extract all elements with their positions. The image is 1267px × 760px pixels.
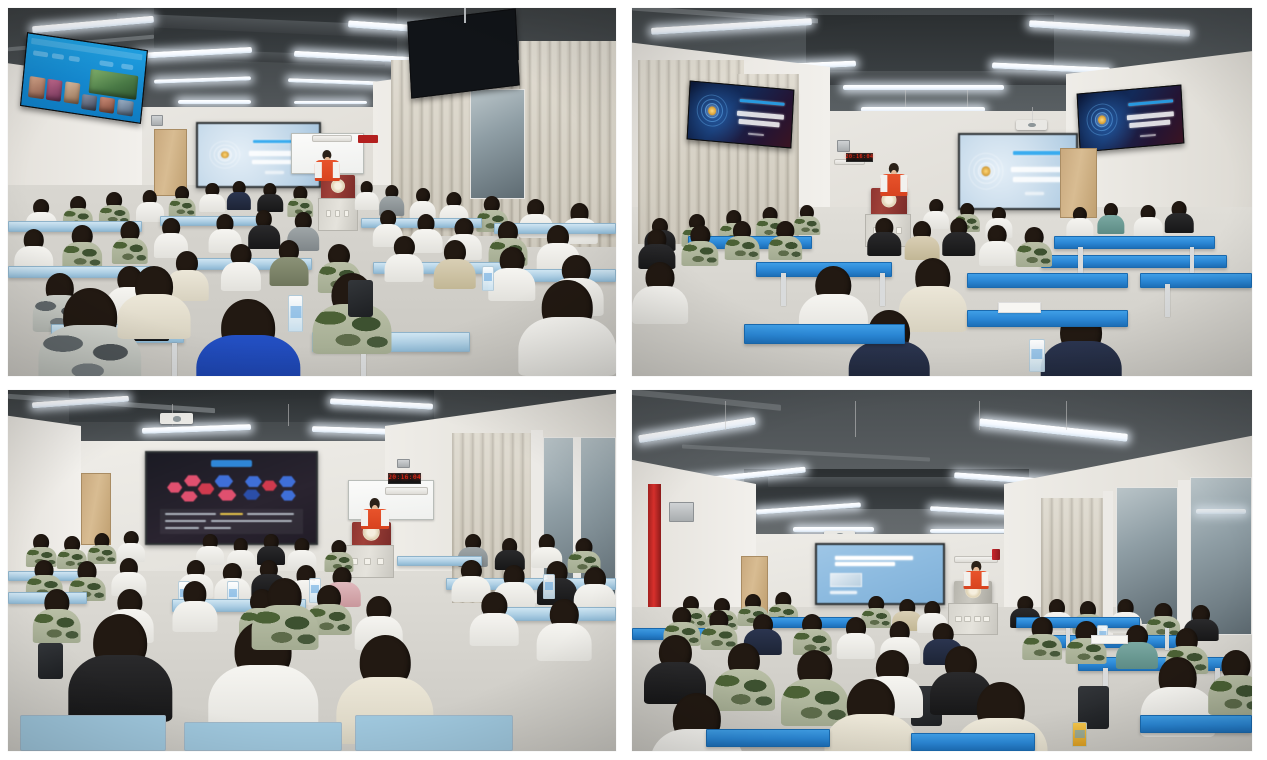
student — [1165, 201, 1194, 233]
panel-top-right[interactable]: 20:16:04 — [632, 8, 1252, 376]
water-bottle — [1029, 339, 1045, 372]
mindmap-node — [245, 476, 262, 488]
tv-thumb[interactable] — [46, 78, 63, 102]
slide-title-1 — [1011, 167, 1067, 172]
bench-back — [355, 715, 513, 751]
mindmap-node — [281, 490, 296, 501]
fire-alarm — [992, 549, 1001, 560]
window — [470, 89, 525, 199]
desk — [1041, 255, 1227, 268]
slide-title-2 — [835, 562, 896, 566]
mindmap-title — [211, 460, 252, 467]
student — [63, 225, 103, 269]
student — [1097, 203, 1124, 234]
ceiling-light — [178, 100, 251, 104]
student — [355, 181, 379, 210]
desk-leg — [172, 343, 177, 376]
student — [470, 592, 519, 646]
desk — [1140, 273, 1252, 288]
slide-footer — [830, 591, 858, 594]
body-text-line — [211, 520, 292, 522]
mindmap-node — [198, 483, 215, 495]
ceiling-projector — [160, 413, 193, 424]
student-foreground — [69, 614, 172, 722]
tv-chip — [121, 63, 133, 70]
podium-base — [318, 198, 358, 231]
body-text-line — [220, 513, 244, 515]
slide-emblem-rings — [209, 140, 240, 169]
red-column — [648, 484, 662, 607]
student — [942, 218, 975, 256]
presenter-2 — [880, 163, 907, 196]
student — [227, 181, 251, 210]
wall-speaker — [669, 502, 694, 522]
desk-front — [967, 310, 1128, 327]
student — [99, 192, 129, 225]
slide-title-1 — [835, 556, 913, 560]
panel-top-left[interactable] — [8, 8, 616, 376]
student-foreground — [196, 299, 299, 376]
student-foreground — [632, 262, 688, 325]
tv-thumb[interactable] — [99, 96, 116, 114]
body-text-line — [165, 520, 206, 522]
student — [434, 240, 477, 289]
tv-chip — [100, 60, 115, 67]
slide-image-box — [830, 573, 863, 587]
student-foreground — [824, 679, 917, 751]
student — [257, 183, 283, 212]
presenter-3 — [361, 498, 389, 529]
student — [1209, 650, 1252, 715]
student — [537, 599, 592, 660]
student — [1134, 205, 1163, 237]
water-bottle — [482, 266, 494, 292]
ceiling-light — [294, 101, 367, 105]
desk-front — [706, 729, 830, 747]
bench-back — [184, 722, 342, 751]
tv-thumb[interactable] — [64, 81, 81, 105]
photo-collage: 20:16:04 — [0, 0, 1267, 760]
presenter-1 — [315, 150, 339, 181]
mindmap-node — [184, 475, 201, 487]
slide-dark-emblem — [687, 82, 793, 148]
wall-speaker — [837, 140, 851, 151]
projection-screen-3 — [145, 451, 318, 545]
water-bottle — [543, 574, 555, 599]
mindmap-node — [215, 475, 234, 488]
mindmap-node — [167, 482, 182, 493]
desk-leg — [361, 352, 366, 376]
classroom-scene-1 — [8, 8, 616, 376]
ac-vent — [312, 135, 352, 142]
slide-heading — [739, 99, 785, 106]
ceiling-light — [843, 85, 1004, 90]
body-text-line — [165, 513, 216, 515]
mindmap-node — [243, 489, 260, 500]
slide-footer — [748, 132, 765, 136]
panel-bottom-left[interactable]: 20:16:04 — [8, 390, 616, 751]
desk — [967, 273, 1128, 288]
backpack — [348, 280, 372, 317]
collage-grid: 20:16:04 — [8, 8, 1252, 751]
desk-front — [911, 733, 1035, 751]
slide-title-2 — [1013, 177, 1062, 182]
mindmap-node — [181, 491, 198, 502]
tv-chip — [69, 55, 80, 62]
desk-front — [744, 324, 905, 344]
drink-bottle — [1072, 722, 1087, 747]
slide-footer — [265, 171, 284, 173]
wall-speaker — [151, 115, 163, 126]
ceiling-light — [930, 529, 1011, 533]
classroom-scene-3: 20:16:04 — [8, 390, 616, 751]
desk-front — [1140, 715, 1252, 733]
classroom-scene-4 — [632, 390, 1252, 751]
wall-speaker — [397, 459, 410, 468]
paper-handout — [1091, 635, 1128, 644]
led-clock-text: 20:16:04 — [845, 155, 873, 160]
backpack — [38, 643, 62, 679]
led-clock-3: 20:16:04 — [388, 473, 421, 484]
slide-hex-mindmap — [147, 453, 316, 543]
student — [221, 244, 261, 292]
student — [793, 614, 831, 655]
wall-tv-right[interactable] — [1077, 84, 1185, 152]
led-clock-text: 20:16:04 — [388, 475, 421, 481]
mindmap-node — [262, 480, 277, 491]
slide-pale-blue — [817, 545, 943, 602]
tv-thumb[interactable] — [81, 94, 98, 112]
podium-emblem — [331, 179, 345, 193]
student — [111, 221, 147, 263]
slide-footer — [1140, 133, 1157, 137]
exit-sign — [358, 135, 379, 143]
slide-title-2 — [738, 119, 779, 127]
tv-mount — [464, 8, 466, 23]
tv-chip — [33, 50, 48, 57]
tv-thumb[interactable] — [28, 76, 45, 100]
student — [868, 218, 901, 256]
student-foreground — [251, 578, 318, 650]
student — [1016, 227, 1052, 267]
student — [905, 221, 940, 260]
mindmap-node — [218, 489, 237, 501]
tv-thumb[interactable] — [116, 99, 134, 117]
student — [979, 225, 1015, 265]
led-clock-2: 20:16:04 — [846, 153, 873, 162]
student — [169, 186, 196, 217]
body-text-line — [165, 527, 199, 529]
slide-heading — [1128, 99, 1174, 106]
student — [269, 240, 308, 286]
tv-chip — [52, 53, 64, 60]
ac-vent — [385, 487, 428, 494]
student — [1023, 617, 1063, 660]
body-text-line — [247, 513, 294, 515]
slide-title-1 — [1127, 111, 1175, 120]
student-foreground — [519, 280, 616, 376]
slide-title-2 — [1129, 120, 1170, 128]
wall-tv-left[interactable] — [686, 81, 794, 149]
student — [725, 221, 760, 260]
slide-dark-emblem — [1078, 85, 1184, 151]
mindmap-node — [279, 476, 296, 488]
student — [682, 225, 719, 265]
student — [768, 221, 801, 259]
panel-bottom-right[interactable] — [632, 390, 1252, 751]
window-reflection-light — [1196, 509, 1246, 514]
slide-footer — [1025, 192, 1044, 195]
student — [1066, 207, 1093, 238]
presenter-4 — [964, 561, 989, 588]
student — [200, 183, 226, 212]
notebook — [998, 302, 1041, 313]
body-text-line — [204, 527, 231, 529]
bench-back — [20, 715, 166, 751]
classroom-scene-2: 20:16:04 — [632, 8, 1252, 376]
student-foreground — [117, 266, 190, 340]
